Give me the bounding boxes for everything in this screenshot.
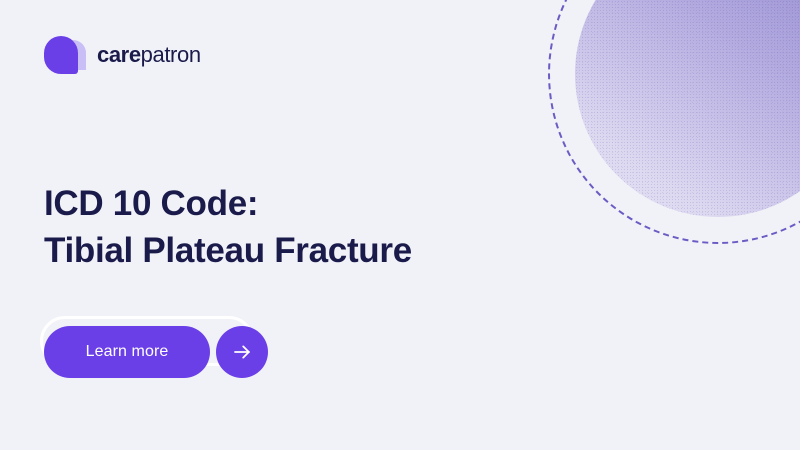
brand-logo[interactable]: carepatron: [44, 36, 201, 74]
page-title-line-2: Tibial Plateau Fracture: [44, 228, 412, 274]
learn-more-arrow-button[interactable]: [216, 326, 268, 378]
orb-halo: [572, 0, 800, 220]
carepatron-droplet-logo-icon: [44, 36, 86, 74]
brand-wordmark-regular: patron: [141, 42, 201, 67]
gradient-noise-circle-icon: [575, 0, 800, 217]
dashed-circle-outline-icon: [548, 0, 800, 244]
promo-banner: carepatron ICD 10 Code: Tibial Plateau F…: [0, 0, 800, 450]
learn-more-button[interactable]: Learn more: [44, 326, 210, 378]
cta-group: Learn more: [44, 326, 264, 378]
logo-shape-front: [44, 36, 78, 74]
arrow-right-icon: [231, 341, 253, 363]
page-title-line-1: ICD 10 Code:: [44, 181, 412, 227]
brand-wordmark: carepatron: [97, 44, 201, 66]
brand-wordmark-bold: care: [97, 42, 141, 67]
page-title: ICD 10 Code: Tibial Plateau Fracture: [44, 181, 412, 273]
decorative-circle-cluster: [510, 0, 800, 300]
